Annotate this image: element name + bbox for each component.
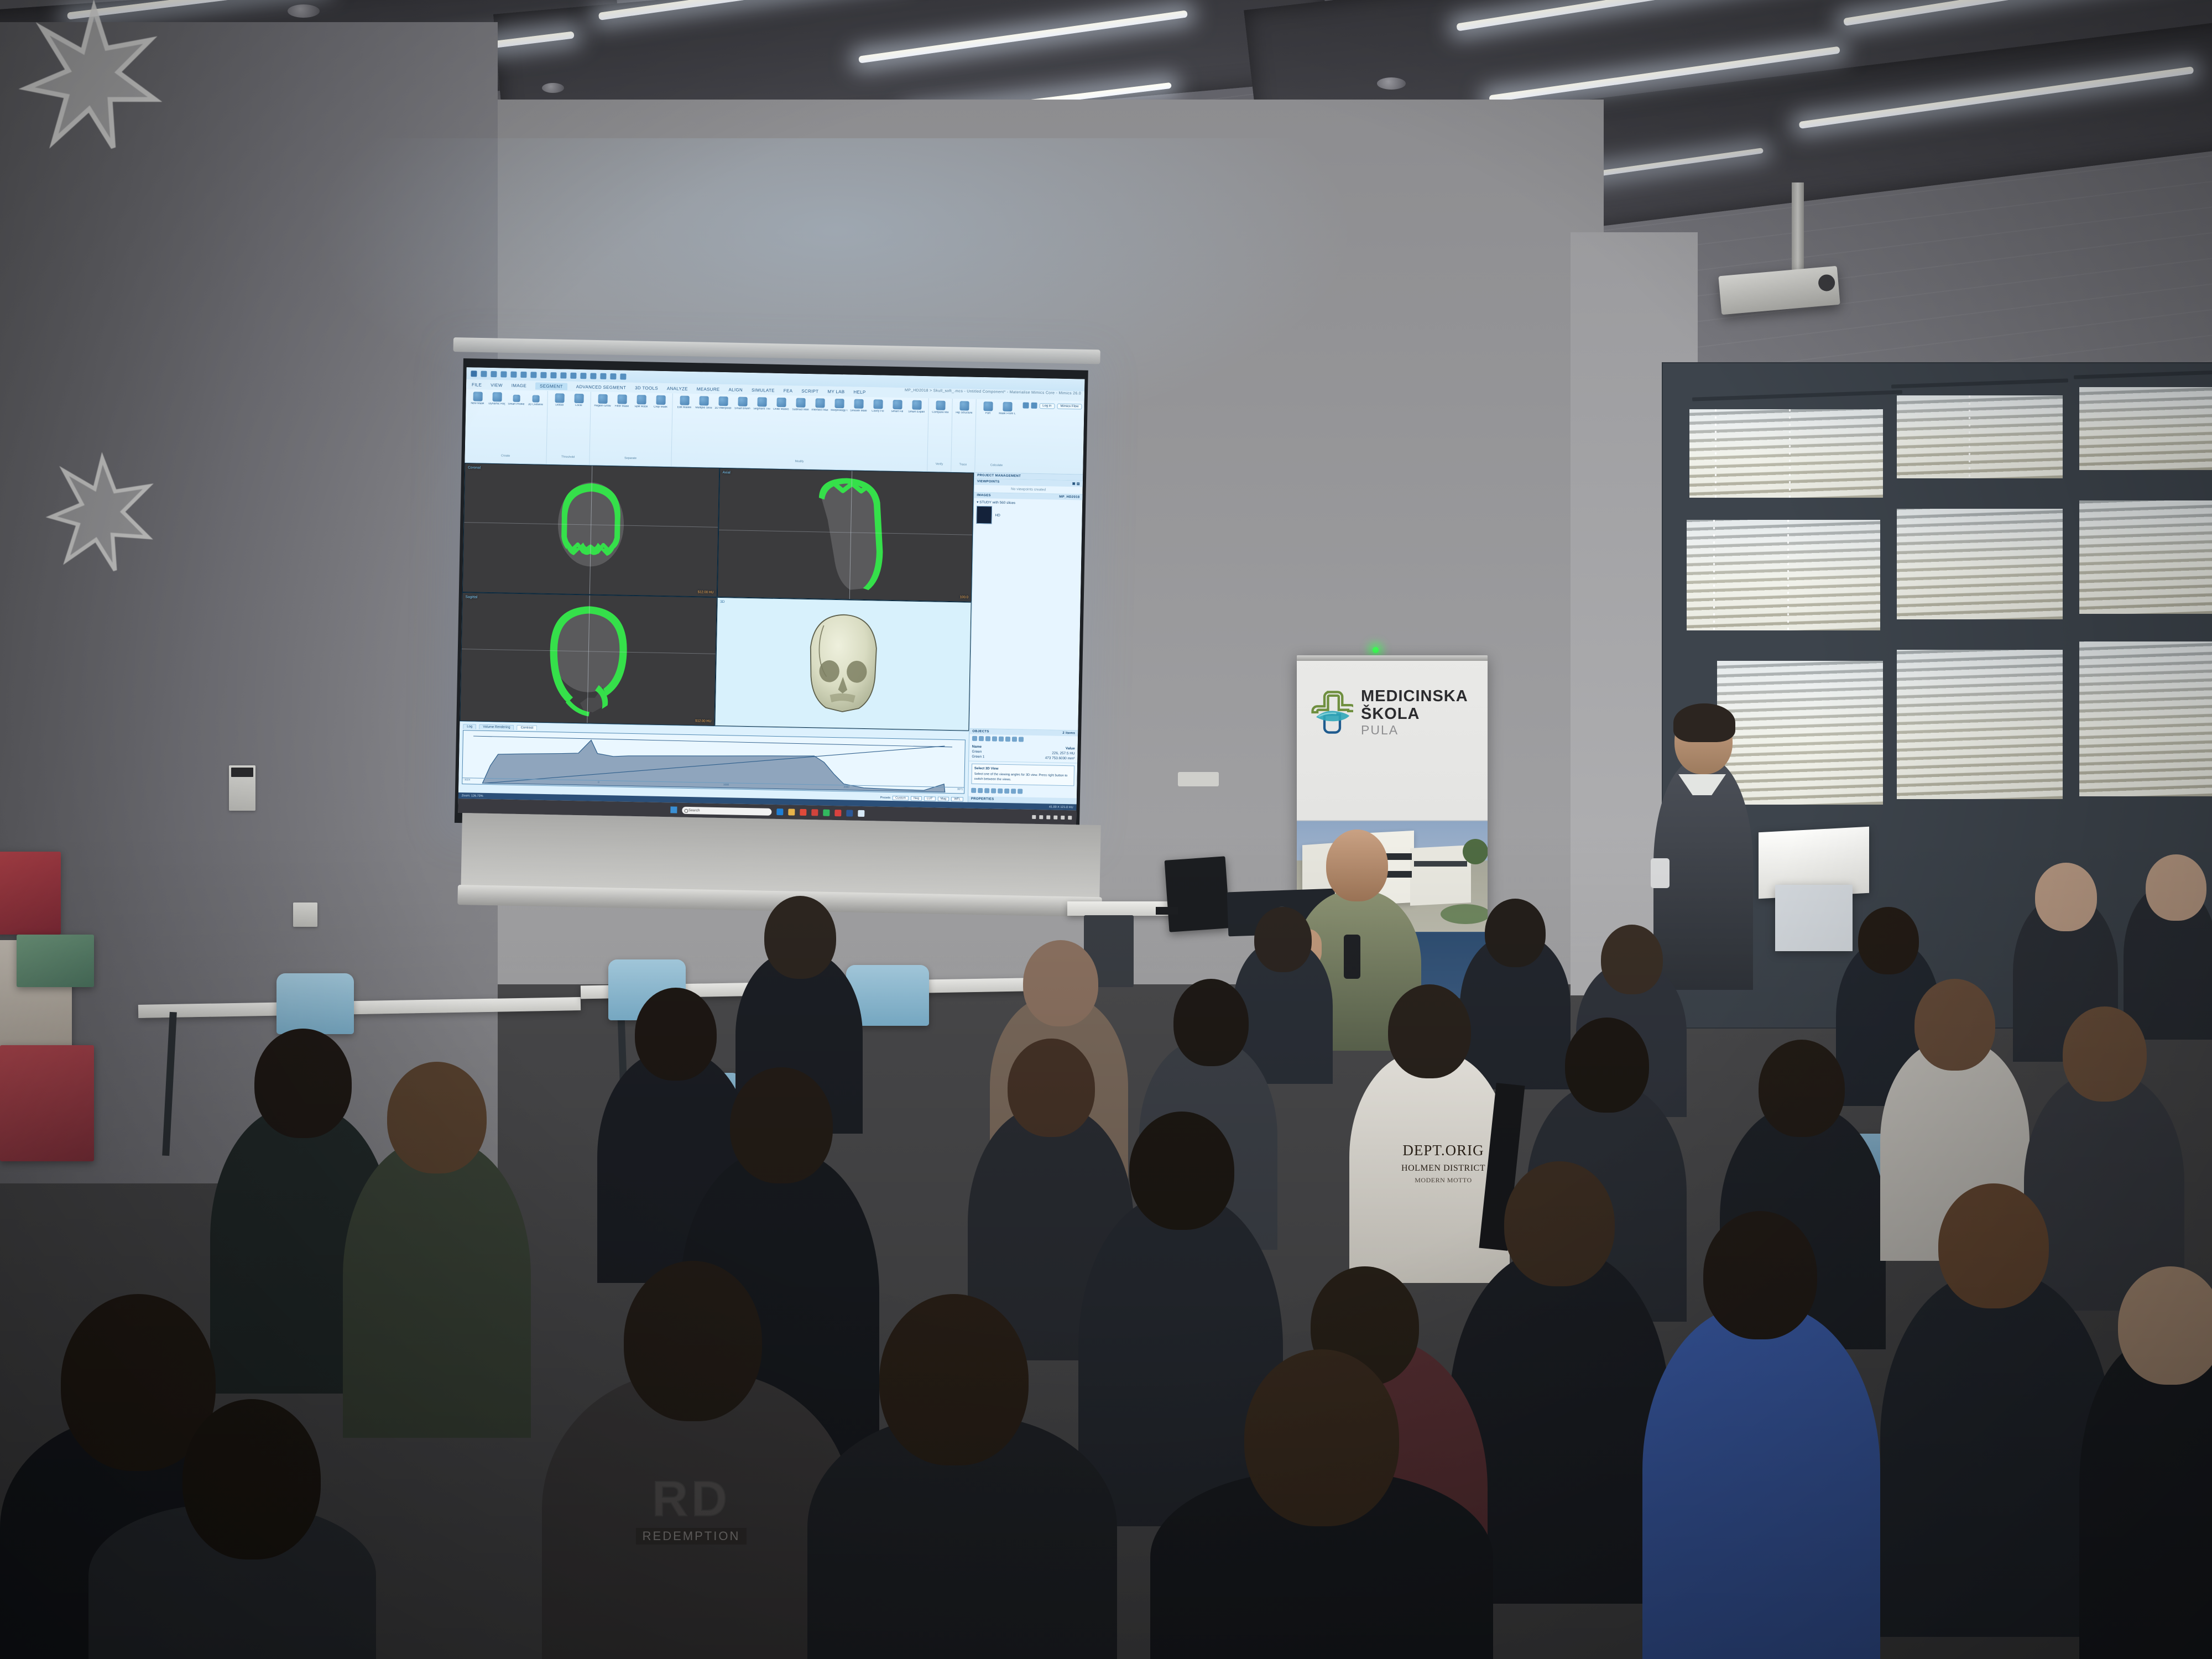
settings-icon[interactable]	[590, 373, 596, 379]
sphere-icon[interactable]	[1004, 789, 1009, 794]
smooth-label: Smooth Mask	[850, 409, 867, 413]
thin-bone-label: Segment Thin Bone	[753, 408, 770, 411]
audience-head	[1601, 925, 1663, 994]
mimics-flow-button[interactable]: Mimics Flow	[1057, 403, 1082, 409]
histogram-panel[interactable]: Log Volume Rendering Contrast	[458, 721, 969, 802]
window-blinds[interactable]	[2079, 641, 2212, 796]
ruler-icon[interactable]	[978, 788, 983, 793]
audience-head	[2146, 854, 2206, 921]
filter-mask-button[interactable]: Filter Mask	[613, 394, 630, 408]
viewpoints-section[interactable]: VIEWPOINTS ▣ ▤ No viewpoints created	[974, 479, 1083, 495]
smooth-mask-button[interactable]: Smooth Mask	[850, 399, 867, 413]
object-value: 226, 257.5 HU	[1052, 752, 1074, 756]
menu-measure[interactable]: MEASURE	[697, 387, 720, 392]
intersect-masks-button[interactable]: Intersect Masks	[811, 398, 828, 412]
audience-member	[1880, 1272, 2112, 1637]
mimics-logo-icon	[471, 371, 477, 377]
measure-icon[interactable]	[550, 372, 556, 378]
region-grow-sep-label: Region Grow	[594, 405, 611, 408]
window-blinds[interactable]	[1897, 395, 2063, 478]
profile-line-label: Smart Profile Line	[508, 403, 524, 406]
menu-my-lab[interactable]: MY LAB	[827, 389, 844, 394]
magnify-button[interactable]: Mag	[937, 796, 949, 801]
region-grow-button[interactable]: Region Grow	[594, 394, 611, 408]
banner-top-rail	[1297, 655, 1488, 661]
blind-cord[interactable]	[1969, 395, 1970, 478]
thin-bone-button[interactable]: Segment Thin Bone	[753, 397, 770, 411]
audience-head	[1173, 979, 1249, 1066]
ribbon-toolbar[interactable]: New Mask Dynamic Region Grow Smart Profi…	[465, 389, 1084, 474]
audience-head	[387, 1062, 487, 1173]
status-led-indicator	[1373, 647, 1379, 653]
properties-icon[interactable]	[999, 737, 1004, 742]
help-icon[interactable]	[580, 373, 586, 379]
audience-member	[343, 1139, 531, 1438]
thermostat-display	[231, 768, 253, 777]
viewport-label-coronal: Coronal	[468, 466, 481, 469]
window-pane	[2079, 500, 2212, 614]
audience-head	[2035, 863, 2097, 931]
edit-mask-icon	[680, 396, 689, 405]
smart-expand-icon	[912, 400, 921, 410]
plane-icon[interactable]	[991, 788, 996, 793]
hip-structures-label: Hip Structures	[956, 411, 972, 415]
viewport-3d[interactable]: 3D	[714, 597, 972, 731]
images-section[interactable]: IMAGES MP_HD2018 ▾ STUDY with 560 slices…	[969, 493, 1082, 731]
new-mask-icon	[473, 392, 482, 401]
blind-cord[interactable]	[1715, 409, 1717, 498]
status-zoom: Zoom: 126.73%	[462, 794, 483, 798]
study-thumbnail[interactable]	[976, 506, 992, 524]
desk-monitor[interactable]	[1165, 856, 1230, 932]
study-row[interactable]: ▾ STUDY with 560 slices	[977, 500, 1079, 507]
smart-brush-button[interactable]: Smart Brush	[734, 397, 750, 410]
compare-icon	[936, 400, 945, 410]
hoodie-line3: MODERN MOTTO	[1388, 1175, 1499, 1185]
global-threshold-label: Global	[555, 404, 564, 407]
gift-box	[0, 1045, 94, 1161]
light-switch[interactable]	[293, 902, 317, 927]
morphology-icon	[834, 399, 844, 408]
smoke-detector	[542, 83, 564, 93]
window-pane	[1897, 395, 2063, 478]
smart-fill-button[interactable]: Smart Fill	[889, 400, 905, 414]
unite-label: Unite Masks	[773, 408, 789, 411]
classroom-chair[interactable]	[276, 973, 354, 1034]
menu-3d-tools[interactable]: 3D TOOLS	[635, 385, 658, 390]
tab-contrast[interactable]: Contrast	[517, 725, 538, 731]
smart-brush-label: Smart Brush	[734, 407, 750, 410]
lut-button[interactable]: LUT	[924, 796, 936, 801]
ribbon-group-label-separate: Separate	[624, 455, 637, 460]
window-pane	[2079, 387, 2212, 470]
audience-head	[1388, 984, 1471, 1078]
delete-object-icon[interactable]	[1019, 737, 1024, 742]
filter-mask-label: Filter Mask	[615, 405, 629, 408]
window-pane	[1717, 661, 1883, 805]
viewport-row-bottom: Sagittal 512.00 HU	[460, 592, 971, 731]
undo-icon[interactable]	[500, 371, 507, 377]
subtract-masks-button[interactable]: Subtract Masks	[792, 398, 808, 411]
ceiling-speaker	[288, 4, 320, 18]
multi-slice-edit-button[interactable]: Multiple Slice Edit	[695, 396, 712, 410]
presentation-clicker[interactable]	[1651, 858, 1670, 888]
paper-snowflake-decoration	[39, 431, 166, 597]
file-explorer-icon[interactable]	[788, 808, 795, 815]
tab-volume-rendering[interactable]: Volume Rendering	[479, 724, 514, 730]
visibility-icon[interactable]	[985, 736, 990, 741]
menu-align[interactable]: ALIGN	[728, 387, 743, 392]
split-mask-icon	[637, 395, 646, 404]
mask-from-object-button[interactable]: Mask From Object	[999, 402, 1015, 416]
negative-button[interactable]: Neg	[911, 796, 922, 800]
window-blinds[interactable]	[1717, 661, 1883, 805]
whatsapp-icon[interactable]	[823, 810, 830, 816]
audience-head	[254, 1029, 352, 1138]
paper-snowflake-decoration	[11, 0, 177, 160]
fit-icon[interactable]	[620, 373, 626, 379]
viewpoints-title: VIEWPOINTS	[977, 480, 1000, 484]
close-icon[interactable]	[998, 789, 1003, 794]
audience-head	[730, 1067, 833, 1183]
ribbon-group-label-threshold: Threshold	[561, 453, 575, 458]
window-blinds[interactable]	[1897, 509, 2063, 619]
export-icon[interactable]	[540, 372, 546, 378]
pdf-icon[interactable]	[811, 809, 818, 816]
window-pane	[2079, 641, 2212, 796]
audience-head	[1858, 907, 1919, 974]
screenshot-icon[interactable]	[570, 372, 576, 378]
unite-masks-button[interactable]: Unite Masks	[773, 398, 789, 411]
tshirt-line2: REDEMPTION	[636, 1528, 747, 1545]
ceiling-speaker	[1377, 77, 1406, 90]
school-name-line1: MEDICINSKA	[1361, 687, 1468, 705]
merge-icon[interactable]	[992, 737, 997, 742]
intersect-icon	[815, 398, 825, 408]
crop-mask-label: Crop Mask	[654, 406, 667, 409]
search-input[interactable]: Search	[682, 806, 771, 815]
wall-socket	[1178, 772, 1219, 786]
object-name: Green 1	[972, 755, 984, 759]
mimics-icon[interactable]	[858, 810, 864, 817]
ribbon-group-label-verify: Verify	[936, 461, 943, 466]
viewport-value-sagittal: 512.00 HU	[695, 719, 711, 723]
viewport-value-coronal: 512.00 HU	[698, 591, 714, 594]
tshirt-line1: RD	[586, 1471, 796, 1528]
global-threshold-button[interactable]: Global	[551, 393, 567, 407]
audience-head	[2063, 1006, 2147, 1102]
audience-head	[182, 1399, 321, 1559]
smart-fill-label: Smart Fill	[891, 410, 903, 414]
open-icon[interactable]	[481, 371, 487, 377]
morphology-label: Morphology Operations	[831, 409, 847, 413]
ribbon-group-separate: Region Grow Filter Mask Split Mask	[589, 392, 673, 466]
print-icon[interactable]	[560, 372, 566, 378]
viewport-coronal[interactable]: Coronal 512.00 HU	[462, 463, 719, 597]
tab-log[interactable]: Log	[463, 724, 476, 729]
viewpoints-actions-icon[interactable]: ▣ ▤	[1072, 482, 1080, 486]
zoom-icon[interactable]	[610, 373, 616, 379]
audience-head	[764, 896, 836, 979]
school-name-line2: ŠKOLA	[1361, 705, 1468, 723]
viewport-label-axial: Axial	[723, 471, 731, 474]
battery-icon[interactable]	[1046, 815, 1050, 819]
livewire-icon	[532, 395, 539, 402]
save-icon[interactable]	[491, 371, 497, 377]
mimics-application-window[interactable]: FILE VIEW IMAGE SEGMENT ADVANCED SEGMENT…	[458, 367, 1084, 825]
pan-icon[interactable]	[600, 373, 606, 379]
tooltip-title: Select 3D View	[974, 766, 999, 771]
audience-head	[635, 988, 717, 1081]
compare-masks-button[interactable]: Compare Masks	[932, 400, 948, 414]
project-management-panel[interactable]: PROJECT MANAGEMENT VIEWPOINTS ▣ ▤ No vie…	[968, 473, 1083, 805]
audience-head	[879, 1294, 1029, 1465]
window-pane	[1689, 409, 1883, 498]
import-icon[interactable]	[530, 372, 536, 378]
menu-segment[interactable]: SEGMENT	[535, 382, 567, 390]
blind-cord[interactable]	[1789, 409, 1791, 498]
copy-icon[interactable]	[1005, 737, 1010, 742]
viewport-value-axial: 100.0	[960, 596, 968, 599]
window-pane	[1687, 520, 1880, 630]
cavity-fill-button[interactable]: Cavity Fill	[869, 399, 886, 413]
blind-cord[interactable]	[1713, 520, 1715, 630]
paste-icon[interactable]	[1012, 737, 1017, 742]
ribbon-group-threshold: Global Local Threshold	[546, 391, 591, 465]
projection-screen: FILE VIEW IMAGE SEGMENT ADVANCED SEGMENT…	[455, 358, 1088, 835]
smart-fill-icon	[893, 400, 902, 409]
ribbon-group-modify: Edit Masks Multiple Slice Edit 3D Interp…	[671, 393, 928, 471]
hip-structures-button[interactable]: Hip Structures	[956, 401, 972, 415]
objects-section[interactable]: OBJECTS 2 Items	[969, 729, 1078, 764]
livewire-label: 3D Livewire	[528, 403, 543, 406]
subtract-label: Subtract Masks	[792, 408, 808, 411]
smooth-icon	[854, 399, 863, 409]
tooltip-text: Select one of the viewing angles for 3D …	[974, 772, 1071, 783]
menu-simulate[interactable]: SIMULATE	[752, 388, 775, 393]
subtract-icon	[796, 398, 805, 408]
login-button[interactable]: Log in	[1039, 403, 1055, 409]
smart-brush-icon	[738, 397, 747, 406]
new-mask-label: New Mask	[471, 402, 484, 405]
audience-head	[1504, 1161, 1615, 1286]
ribbon-group-trace: Hip Structures Trace	[951, 399, 977, 472]
audience-head	[1759, 1040, 1845, 1137]
box-icon[interactable]	[984, 788, 989, 793]
window-blinds[interactable]	[2079, 387, 2212, 470]
microphone[interactable]	[1344, 935, 1360, 979]
school-name-line3: PULA	[1361, 723, 1468, 738]
study-label: STUDY with 560 slices	[979, 500, 1015, 505]
ribbon-group-verify: Compare Masks Verify	[927, 398, 953, 472]
intersect-label: Intersect Masks	[811, 409, 828, 412]
preset-select[interactable]: Custom	[893, 796, 909, 801]
window-blinds[interactable]	[1687, 520, 1880, 630]
multi-slice-icon	[699, 396, 708, 405]
window-pane	[1897, 509, 2063, 619]
thermostat-panel[interactable]	[229, 765, 255, 811]
menu-image[interactable]: IMAGE	[512, 383, 526, 388]
clock-icon[interactable]	[1068, 816, 1072, 820]
hip-structures-icon	[959, 401, 969, 410]
audience-member	[2079, 1338, 2212, 1659]
thin-bone-icon	[757, 397, 766, 406]
school-logo: MEDICINSKA ŠKOLA PULA	[1311, 687, 1468, 738]
wfl-button[interactable]: WFL	[951, 797, 963, 801]
audience-head	[1938, 1183, 2049, 1308]
unite-icon	[776, 398, 786, 407]
contrast-top-line	[473, 736, 952, 747]
smart-profile-line-button[interactable]: Smart Profile Line	[508, 395, 524, 406]
study-thumbnail-label: HD	[995, 513, 1000, 517]
calculate-part-icon	[983, 401, 993, 411]
ribbon-right-controls[interactable]: Log in Mimics Flow	[1022, 402, 1082, 409]
ribbon-group-label-trace: Trace	[959, 461, 967, 466]
split-mask-label: Split Mask	[634, 405, 648, 409]
histogram-chart[interactable]: -1024 0 1000 2000 3071	[462, 730, 966, 794]
panel-title: PROJECT MANAGEMENT	[977, 474, 1021, 478]
interpolate-icon	[718, 397, 728, 406]
viewport-axial[interactable]: Axial 100.0	[717, 468, 974, 602]
school-name-block: MEDICINSKA ŠKOLA PULA	[1361, 687, 1468, 738]
multi-slice-label: Multiple Slice Edit	[695, 406, 712, 410]
filter-mask-icon	[617, 394, 627, 404]
ribbon-group-label-modify: Modify	[795, 458, 804, 463]
morphology-button[interactable]: Morphology Operations	[831, 399, 847, 413]
ribbon-group-create: New Mask Dynamic Region Grow Smart Profi…	[465, 389, 548, 464]
cavity-fill-icon	[873, 399, 883, 409]
compare-label: Compare Masks	[932, 411, 948, 414]
mask-from-object-icon	[1003, 402, 1012, 411]
local-threshold-label: Local	[575, 404, 582, 408]
presenter-hair	[1673, 703, 1735, 742]
livewire-button[interactable]: 3D Livewire	[527, 395, 544, 406]
region-grow-icon	[598, 394, 607, 404]
images-study-name: MP_HD2018	[1059, 495, 1079, 499]
viewport-label-3d: 3D	[720, 599, 724, 603]
status-hu: 41.00 X 121.0 HU	[1049, 805, 1073, 809]
network-icon[interactable]	[1053, 815, 1057, 819]
local-threshold-button[interactable]: Local	[570, 394, 587, 408]
split-mask-button[interactable]: Split Mask	[633, 395, 649, 409]
objects-title: OBJECTS	[972, 730, 989, 734]
audience-head	[624, 1261, 762, 1421]
lecture-room-photo: FILE VIEW IMAGE SEGMENT ADVANCED SEGMENT…	[0, 0, 2212, 1659]
menu-help[interactable]: HELP	[853, 389, 865, 394]
project-icon[interactable]	[520, 371, 526, 377]
blind-cord[interactable]	[1787, 520, 1789, 630]
menu-view[interactable]: VIEW	[491, 382, 503, 387]
hoodie-print: DEPT.ORIG HOLMEN DISTRICT MODERN MOTTO	[1388, 1139, 1499, 1185]
audience-head	[1129, 1112, 1234, 1230]
projector-mount-pole	[1792, 182, 1804, 271]
properties-title: PROPERTIES	[971, 797, 994, 801]
dynamic-region-grow-button[interactable]: Dynamic Region Grow	[488, 392, 505, 406]
interpolate-button[interactable]: 3D Interpolate	[714, 397, 731, 410]
gift-box	[0, 852, 61, 935]
tshirt-print: RD REDEMPTION	[586, 1471, 796, 1545]
projection-surface: FILE VIEW IMAGE SEGMENT ADVANCED SEGMENT…	[458, 367, 1084, 825]
audience-head	[2118, 1266, 2212, 1385]
study-thumbnail-row[interactable]: HD	[976, 506, 1079, 526]
up-arrow-icon[interactable]	[1032, 815, 1036, 818]
menu-fea[interactable]: FEA	[784, 388, 793, 393]
audience-head	[1254, 907, 1312, 972]
menu-file[interactable]: FILE	[472, 382, 482, 387]
hoodie-line1: DEPT.ORIG	[1388, 1139, 1499, 1162]
gift-box	[17, 935, 94, 987]
presets-label: Presets	[880, 796, 890, 799]
window-blinds[interactable]	[2079, 500, 2212, 614]
mask-from-object-label: Mask From Object	[999, 413, 1015, 416]
ribbon-group-label-create: Create	[501, 452, 510, 457]
tooltip-select-3d-view: Select 3D View Select one of the viewing…	[971, 764, 1074, 786]
menu-analyze[interactable]: ANALYZE	[667, 386, 688, 392]
crop-mask-button[interactable]: Crop Mask	[652, 395, 669, 409]
speaker-head	[1326, 830, 1388, 901]
smart-expand-button[interactable]: Smart Expand	[908, 400, 925, 414]
medical-cross-hand-logo	[1311, 688, 1353, 736]
notifications-icon[interactable]	[1022, 402, 1029, 408]
curve-icon[interactable]	[1011, 789, 1016, 794]
start-button[interactable]	[670, 806, 677, 813]
audience-head	[1244, 1349, 1399, 1526]
ribbon-group-calculate: Part Mask From Object Calculate	[975, 399, 1019, 473]
point-icon[interactable]	[1018, 789, 1022, 794]
cavity-fill-label: Cavity Fill	[872, 410, 884, 413]
pointer-icon[interactable]	[971, 788, 976, 793]
profile-line-icon	[513, 395, 520, 402]
local-threshold-icon	[574, 394, 583, 403]
edit-mask-label: Edit Masks	[677, 406, 691, 409]
window-blinds[interactable]	[1897, 650, 2063, 799]
objects-count: 2 Items	[1062, 732, 1075, 735]
objects-col-value: Value	[1066, 747, 1075, 750]
opera-icon[interactable]	[834, 810, 841, 816]
cloud-icon[interactable]	[1039, 815, 1043, 819]
audience-head	[1914, 979, 1995, 1071]
volume-icon[interactable]	[1061, 815, 1065, 819]
system-tray[interactable]	[1032, 815, 1072, 819]
window-pane	[1897, 650, 2063, 799]
word-icon[interactable]	[846, 810, 853, 816]
global-threshold-icon	[555, 393, 564, 403]
hoodie-line2: HOLMEN DISTRICT	[1388, 1162, 1499, 1175]
viewport-sagittal[interactable]: Sagittal 512.00 HU	[460, 592, 717, 726]
menu-advanced-segment[interactable]: ADVANCED SEGMENT	[576, 384, 627, 390]
account-icon[interactable]	[1031, 403, 1037, 409]
menu-script[interactable]: SCRIPT	[801, 388, 818, 394]
calculate-part-button[interactable]: Part	[979, 401, 996, 415]
ribbon-group-label-calculate: Calculate	[990, 462, 1003, 467]
new-mask-button[interactable]: New Mask	[469, 392, 486, 405]
window-blinds[interactable]	[1689, 409, 1883, 498]
audience-member	[1642, 1305, 1880, 1659]
objects-col-name: Name	[972, 745, 982, 749]
audience-head	[1703, 1211, 1817, 1339]
redo-icon[interactable]	[510, 371, 517, 377]
audience-head	[1565, 1018, 1649, 1113]
audience-head	[1023, 940, 1098, 1026]
audience-head	[1008, 1039, 1095, 1137]
chrome-icon[interactable]	[800, 809, 806, 816]
edge-icon[interactable]	[776, 808, 783, 815]
duplicate-object-icon[interactable]	[979, 736, 984, 741]
lectern-base	[1775, 885, 1853, 951]
new-object-icon[interactable]	[972, 736, 977, 741]
viewport-grid: Coronal 512.00 HU	[458, 463, 974, 802]
edit-masks-button[interactable]: Edit Masks	[676, 395, 692, 409]
